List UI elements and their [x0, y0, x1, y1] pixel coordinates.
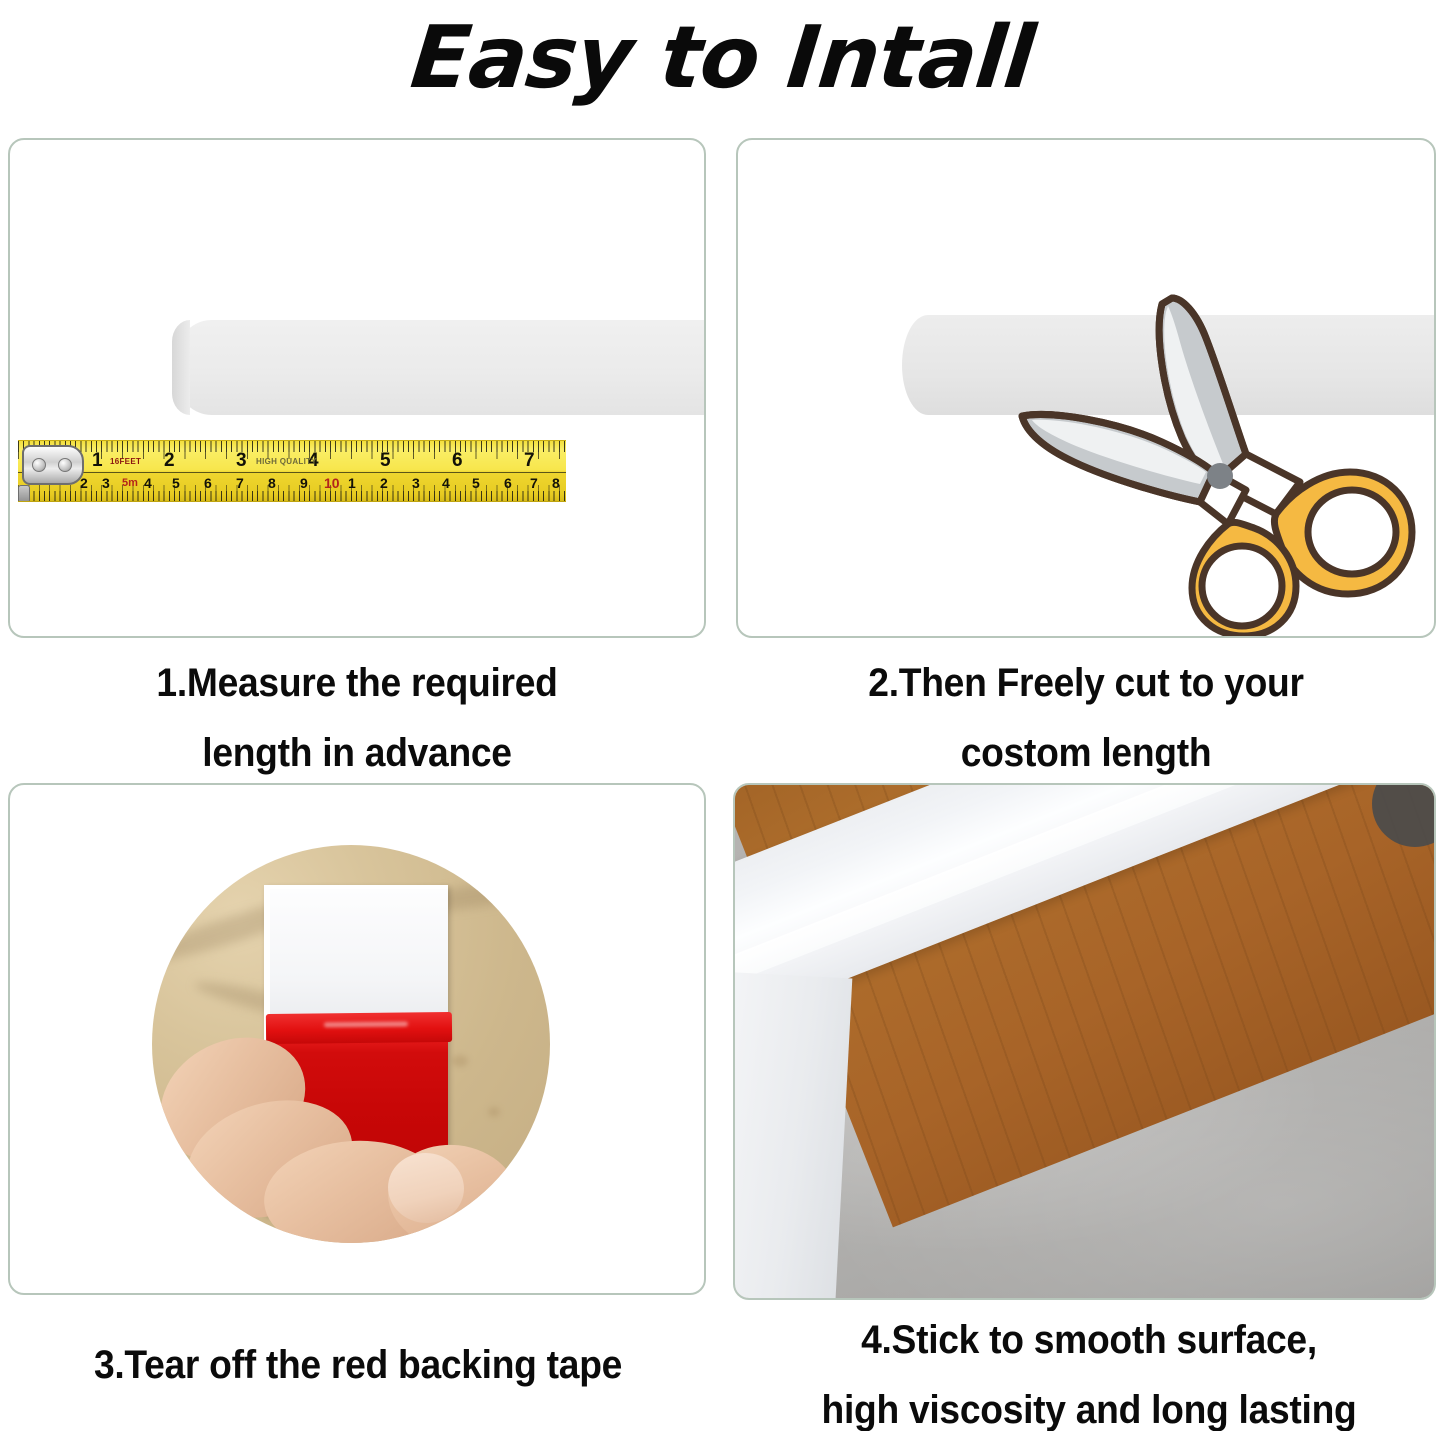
tape-inch-1: 1	[92, 451, 103, 470]
wall-corner	[735, 972, 852, 1298]
tape-cm-11: 1	[348, 476, 356, 490]
tape-cm-17: 7	[530, 476, 538, 490]
tape-ticks-bottom	[18, 491, 566, 502]
tape-cm-10: 10	[324, 476, 340, 490]
caption-line: costom length	[761, 718, 1412, 788]
panel-measure-step: 1 2 3 4 5 6 7 16FEET HIGH QUALITY 5m 2 3…	[8, 138, 706, 638]
tape-brand-label: 16FEET	[110, 457, 141, 466]
trim-card-white-face	[270, 889, 448, 1019]
peel-photo	[152, 845, 550, 1243]
installed-trim-photo	[735, 785, 1434, 1298]
trim-strip-image	[172, 320, 706, 415]
panel-stick-step	[733, 783, 1436, 1300]
tape-measure-icon: 1 2 3 4 5 6 7 16FEET HIGH QUALITY 5m 2 3…	[18, 440, 566, 502]
caption-measure-step: 1.Measure the required length in advance	[32, 648, 681, 788]
panel-cut-step	[736, 138, 1436, 638]
caption-line: 2.Then Freely cut to your	[761, 648, 1412, 718]
stone-spot	[452, 1055, 468, 1067]
tape-cm-6: 6	[204, 476, 212, 490]
tape-cm-12: 2	[380, 476, 388, 490]
tape-cm-18: 8	[552, 476, 560, 490]
tape-quality-label: HIGH QUALITY	[256, 457, 317, 466]
tape-cm-5: 5	[172, 476, 180, 490]
tape-cm-4: 4	[144, 476, 152, 490]
tape-cm-15: 5	[472, 476, 480, 490]
tape-rivet-left	[32, 458, 46, 472]
tape-cm-14: 4	[442, 476, 450, 490]
tape-cm-16: 6	[504, 476, 512, 490]
tape-hook-lip	[18, 485, 30, 502]
tape-inch-7: 7	[524, 451, 535, 470]
tape-inch-6: 6	[452, 451, 463, 470]
stone-spot	[488, 1107, 500, 1117]
tape-cm-8: 8	[268, 476, 276, 490]
caption-line: length in advance	[32, 718, 681, 788]
tape-inch-3: 3	[236, 451, 247, 470]
tape-cm-3: 3	[102, 476, 110, 490]
tape-center-line	[18, 472, 566, 473]
tape-metric-label: 5m	[122, 477, 138, 489]
tape-cm-13: 3	[412, 476, 420, 490]
scissors-pivot-icon	[1207, 463, 1233, 489]
infographic-page: Easy to Intall 1 2 3 4 5 6 7 16FEET HIGH…	[0, 0, 1445, 1431]
caption-line: 1.Measure the required	[32, 648, 681, 718]
caption-line: high viscosity and long lasting	[758, 1375, 1420, 1431]
panel-peel-step	[8, 783, 706, 1295]
caption-line: 3.Tear off the red backing tape	[25, 1330, 691, 1400]
tape-inch-2: 2	[164, 451, 175, 470]
tape-inch-5: 5	[380, 451, 391, 470]
caption-stick-step: 4.Stick to smooth surface, high viscosit…	[758, 1305, 1420, 1431]
tape-hook-icon	[22, 445, 84, 485]
page-title: Easy to Intall	[0, 4, 1445, 112]
red-backing-peel-fold	[266, 1012, 452, 1044]
caption-cut-step: 2.Then Freely cut to your costom length	[761, 648, 1412, 788]
scissors-icon	[1014, 286, 1434, 636]
caption-line: 4.Stick to smooth surface,	[758, 1305, 1420, 1375]
tape-cm-7: 7	[236, 476, 244, 490]
tape-cm-9: 9	[300, 476, 308, 490]
tape-rivet-right	[58, 458, 72, 472]
caption-peel-step: 3.Tear off the red backing tape	[25, 1330, 691, 1400]
